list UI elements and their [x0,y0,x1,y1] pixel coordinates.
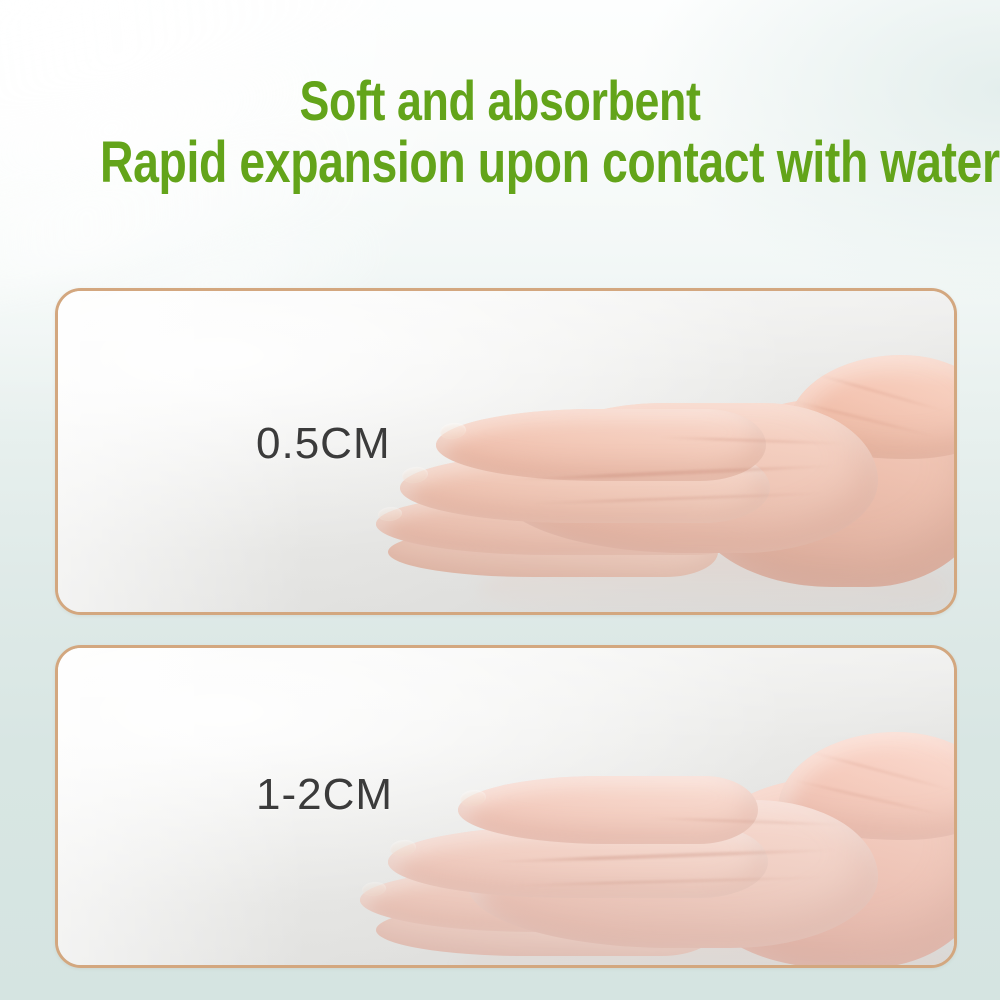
photo-vignette [58,648,954,965]
thickness-label-dry: 0.5CM [256,419,391,469]
headline-line-2: Rapid expansion upon contact with water [100,135,900,192]
photo-vignette [58,291,954,612]
comparison-card-wet: 1-2CM [55,645,957,968]
comparison-card-dry: 0.5CM [55,288,957,615]
product-feature-image: Soft and absorbent Rapid expansion upon … [0,0,1000,1000]
headline: Soft and absorbent Rapid expansion upon … [0,74,1000,192]
headline-line-1: Soft and absorbent [100,74,900,129]
product-photo-dry: 0.5CM [58,291,954,612]
product-photo-wet: 1-2CM [58,648,954,965]
thickness-label-wet: 1-2CM [256,770,393,820]
